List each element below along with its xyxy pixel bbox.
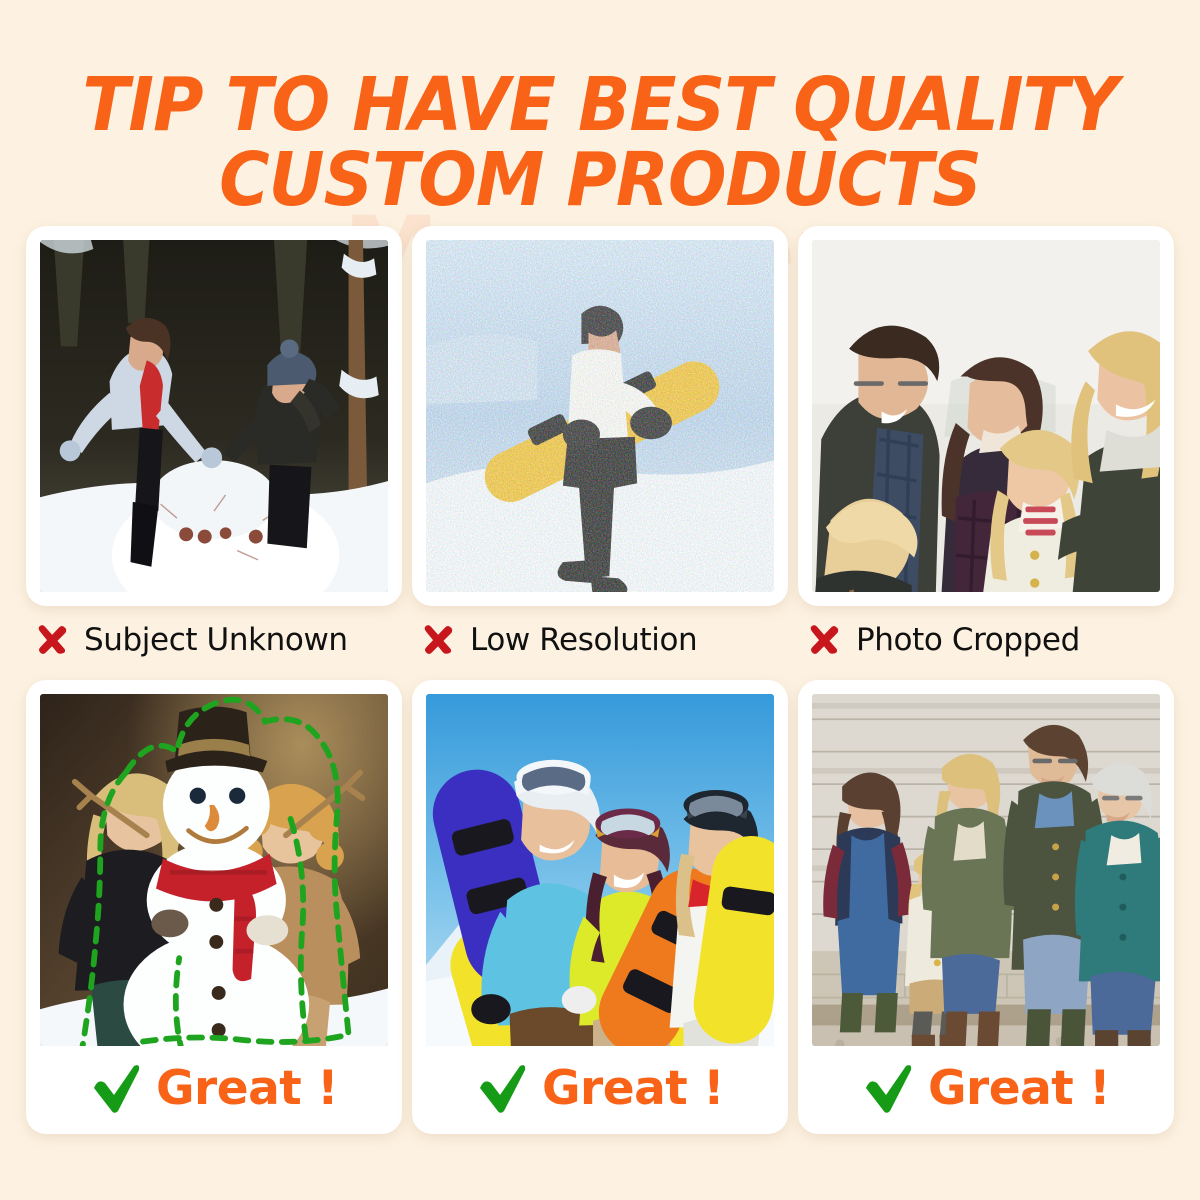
red-x-icon bbox=[806, 622, 842, 658]
label-great-snowman: Great ! bbox=[40, 1056, 388, 1120]
label-great-snowboarders: Great ! bbox=[426, 1056, 774, 1120]
label-photo-cropped: Photo Cropped bbox=[798, 622, 1080, 658]
label-text: Subject Unknown bbox=[84, 622, 348, 658]
photo-illustration-family-barn bbox=[812, 694, 1160, 1046]
green-check-icon bbox=[90, 1062, 142, 1114]
label-text: Great ! bbox=[542, 1061, 724, 1116]
label-text: Great ! bbox=[156, 1061, 338, 1116]
label-low-resolution: Low Resolution bbox=[412, 622, 697, 658]
photo-card-subject-unknown[interactable] bbox=[26, 226, 402, 606]
label-text: Great ! bbox=[928, 1061, 1110, 1116]
example-cell-photo-cropped: Photo Cropped bbox=[798, 226, 1174, 680]
photo-great-snowman bbox=[40, 694, 388, 1046]
green-check-icon bbox=[862, 1062, 914, 1114]
photo-card-great-snowman[interactable]: Great ! bbox=[26, 680, 402, 1134]
green-check-icon bbox=[476, 1062, 528, 1114]
label-text: Low Resolution bbox=[470, 622, 697, 658]
photo-illustration-cropped-family bbox=[812, 240, 1160, 592]
photo-illustration-snowman-forest bbox=[40, 240, 388, 592]
example-cell-low-resolution: Low Resolution bbox=[412, 226, 788, 680]
photo-card-great-snowboarders[interactable]: Great ! bbox=[412, 680, 788, 1134]
red-x-icon bbox=[420, 622, 456, 658]
photo-photo-cropped bbox=[812, 240, 1160, 592]
photo-illustration-three-snowboarders bbox=[426, 694, 774, 1046]
photo-subject-unknown bbox=[40, 240, 388, 592]
label-great-family: Great ! bbox=[812, 1056, 1160, 1120]
label-text: Photo Cropped bbox=[856, 622, 1080, 658]
photo-illustration-snowman-portrait bbox=[40, 694, 388, 1046]
page-title-line-1: TIP TO HAVE BEST QUALITY bbox=[82, 62, 1117, 148]
red-x-icon bbox=[34, 622, 70, 658]
page-title: TIP TO HAVE BEST QUALITY CUSTOM PRODUCTS bbox=[42, 68, 1158, 219]
example-cell-great-snowman: Great ! bbox=[26, 680, 402, 1134]
example-cell-subject-unknown: Subject Unknown bbox=[26, 226, 402, 680]
photo-card-low-resolution[interactable] bbox=[412, 226, 788, 606]
example-cell-great-family: Great ! bbox=[798, 680, 1174, 1134]
photo-card-great-family[interactable]: Great ! bbox=[798, 680, 1174, 1134]
photo-great-family bbox=[812, 694, 1160, 1046]
label-subject-unknown: Subject Unknown bbox=[26, 622, 348, 658]
photo-card-photo-cropped[interactable] bbox=[798, 226, 1174, 606]
page-title-line-2: CUSTOM PRODUCTS bbox=[42, 143, 1158, 218]
examples-grid: Subject Unknown bbox=[0, 226, 1200, 1134]
example-cell-great-snowboarders: Great ! bbox=[412, 680, 788, 1134]
photo-illustration-pixelated-snowboarder bbox=[426, 240, 774, 592]
photo-great-snowboarders bbox=[426, 694, 774, 1046]
photo-low-resolution bbox=[426, 240, 774, 592]
